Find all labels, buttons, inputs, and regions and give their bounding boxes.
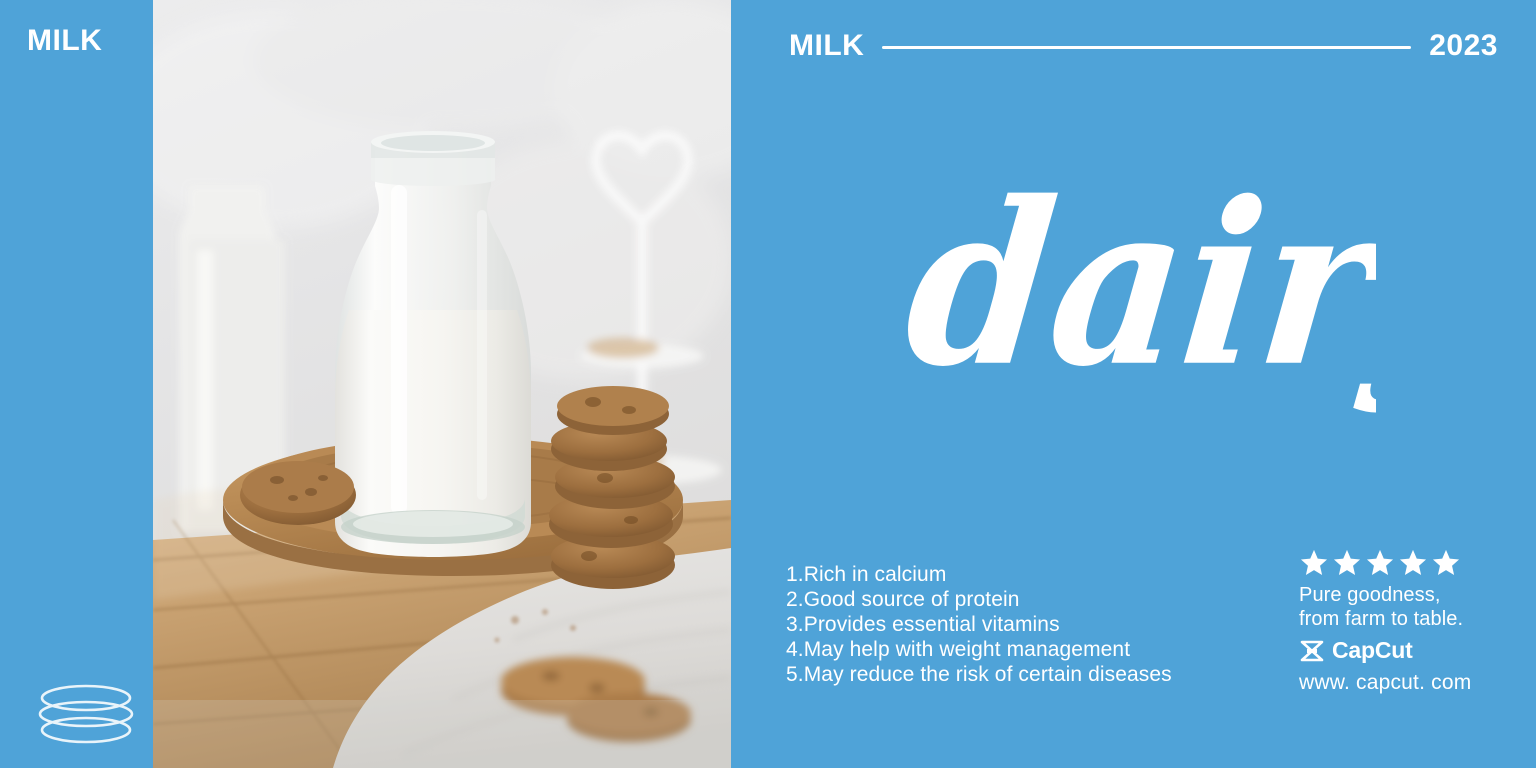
benefits-list: 1.Rich in calcium 2.Good source of prote… [786,562,1172,687]
rating-stars [1299,548,1519,577]
list-item: 1.Rich in calcium [786,562,1172,587]
dairy-word-glyphs: dairy [906,152,1376,416]
capcut-url-label: www. capcut. com [1299,671,1519,695]
list-item: 5.May reduce the risk of certain disease… [786,662,1172,687]
star-icon [1398,548,1428,577]
rail-brand-label: MILK [27,26,102,56]
capcut-wordmark: CapCut [1332,639,1413,662]
star-icon [1365,548,1395,577]
capcut-branding: CapCut [1299,639,1519,662]
star-icon [1299,548,1329,577]
headline-script-word: dairy [906,150,1376,430]
dairy-script-lettering: dairy [906,150,1376,430]
star-icon [1431,548,1461,577]
milk-bottle-photo [153,0,731,768]
capcut-logo-icon [1299,640,1325,662]
promo-block: Pure goodness, from farm to table. CapCu… [1299,548,1519,695]
left-rail: MILK [0,0,153,768]
list-item: 3.Provides essential vitamins [786,612,1172,637]
header-divider-rule [882,46,1411,49]
header-bar: MILK 2023 [789,24,1498,68]
header-year-label: 2023 [1429,31,1498,61]
photo-illustration [153,0,731,768]
right-panel: MILK 2023 dairy 1.Rich in calcium 2.Good… [731,0,1536,768]
star-icon [1332,548,1362,577]
list-item: 4.May help with weight management [786,637,1172,662]
milk-promo-poster: MILK MILK 2023 dairy 1.Rich in calcium [0,0,1536,768]
list-item: 2.Good source of protein [786,587,1172,612]
tagline-line-2: from farm to table. [1299,607,1519,631]
stacked-rings-logo-icon [36,682,136,746]
header-brand-label: MILK [789,31,864,61]
tagline-line-1: Pure goodness, [1299,583,1519,607]
